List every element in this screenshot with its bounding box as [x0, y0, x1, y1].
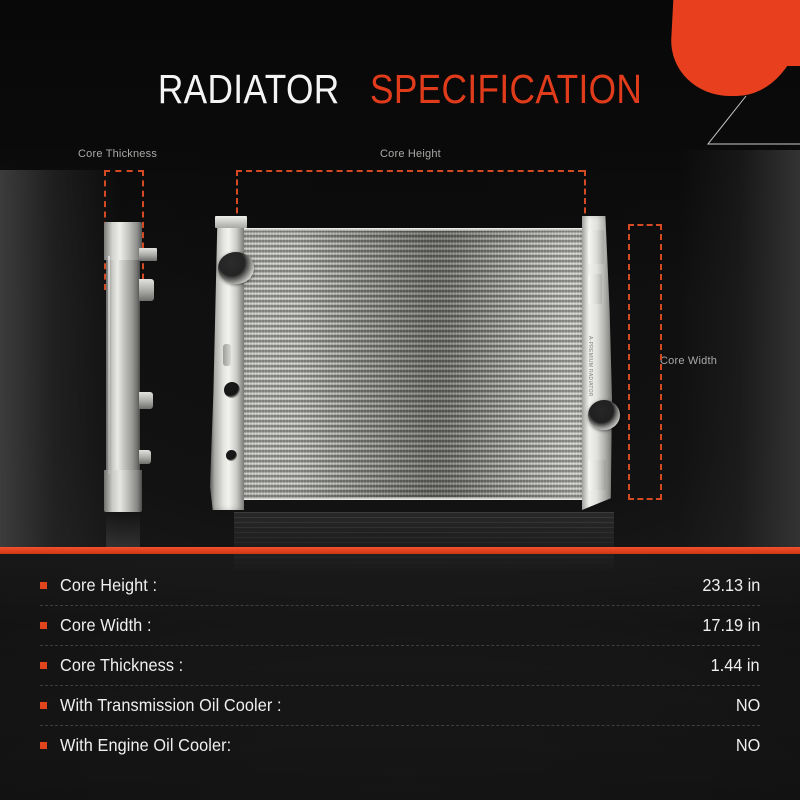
core-width-dash-left: [628, 224, 630, 500]
page-title-secondary: SPECIFICATION: [370, 66, 642, 112]
inlet-port: [218, 252, 254, 284]
left-mounting-hole-2: [226, 450, 237, 461]
spec-row-transmission-oil-cooler: With Transmission Oil Cooler : NO: [40, 686, 760, 726]
side-view-bracket: [139, 248, 157, 261]
spec-value: 23.13 in: [702, 575, 760, 596]
spec-label: Core Height :: [60, 575, 157, 596]
core-bottom-edge: [234, 497, 588, 500]
spec-label: With Transmission Oil Cooler :: [60, 695, 282, 716]
radiator-front-view: A-PREMIUM RADIATOR: [196, 212, 626, 512]
spec-label: Core Thickness :: [60, 655, 183, 676]
bullet-square-icon: [40, 622, 47, 629]
specification-table: Core Height : 23.13 in Core Width : 17.1…: [0, 566, 800, 765]
accent-divider-bar: [0, 547, 800, 554]
page-title-primary: RADIATOR: [158, 66, 340, 112]
side-view-bottom-tank: [104, 470, 142, 512]
side-view-core: [106, 222, 140, 512]
core-width-dash-top: [628, 224, 662, 226]
radiator-specification-page: RADIATOR SPECIFICATION Core Thickness Co…: [0, 0, 800, 800]
core-thickness-label: Core Thickness: [78, 148, 157, 160]
reflection-lines: [234, 512, 614, 572]
core-width-dash-bottom: [628, 498, 662, 500]
bullet-square-icon: [40, 702, 47, 709]
side-view-top-tank: [104, 222, 142, 260]
bullet-square-icon: [40, 742, 47, 749]
spec-value: NO: [736, 695, 760, 716]
spec-row-core-height: Core Height : 23.13 in: [40, 566, 760, 606]
bullet-square-icon: [40, 662, 47, 669]
page-title: RADIATOR SPECIFICATION: [56, 66, 744, 113]
core-height-dash-top: [236, 170, 584, 172]
radiator-core-fins: [234, 228, 588, 500]
spec-value: NO: [736, 735, 760, 756]
side-view-seam: [108, 256, 110, 474]
left-tank-bracket: [215, 216, 247, 228]
outlet-port: [588, 400, 620, 430]
side-view-lower-port: [139, 450, 151, 464]
spec-value: 17.19 in: [702, 615, 760, 636]
side-view-mid-port: [139, 392, 153, 409]
side-view-inlet-port: [139, 279, 154, 301]
spec-row-core-thickness: Core Thickness : 1.44 in: [40, 646, 760, 686]
spec-label: Core Width :: [60, 615, 152, 636]
core-width-label: Core Width: [660, 355, 717, 367]
core-width-dash-right: [660, 224, 662, 500]
spec-value: 1.44 in: [711, 655, 760, 676]
core-height-label: Core Height: [380, 148, 441, 160]
left-tank-slot: [223, 344, 231, 366]
core-shading: [234, 228, 588, 500]
left-mounting-hole-1: [224, 382, 240, 398]
spec-row-engine-oil-cooler: With Engine Oil Cooler: NO: [40, 726, 760, 765]
product-brand-text: A-PREMIUM RADIATOR: [587, 336, 593, 397]
spec-label: With Engine Oil Cooler:: [60, 735, 231, 756]
spec-row-core-width: Core Width : 17.19 in: [40, 606, 760, 646]
bullet-square-icon: [40, 582, 47, 589]
core-top-edge: [234, 228, 588, 231]
right-tank-rib-2: [588, 274, 602, 304]
right-tank-rib-1: [588, 230, 604, 264]
radiator-side-view: [97, 222, 149, 512]
product-diagram: Core Thickness Core Height: [0, 140, 800, 550]
front-view-reflection: [234, 512, 614, 572]
core-thickness-dash-top: [104, 170, 144, 172]
right-tank-rib-3: [588, 460, 606, 490]
